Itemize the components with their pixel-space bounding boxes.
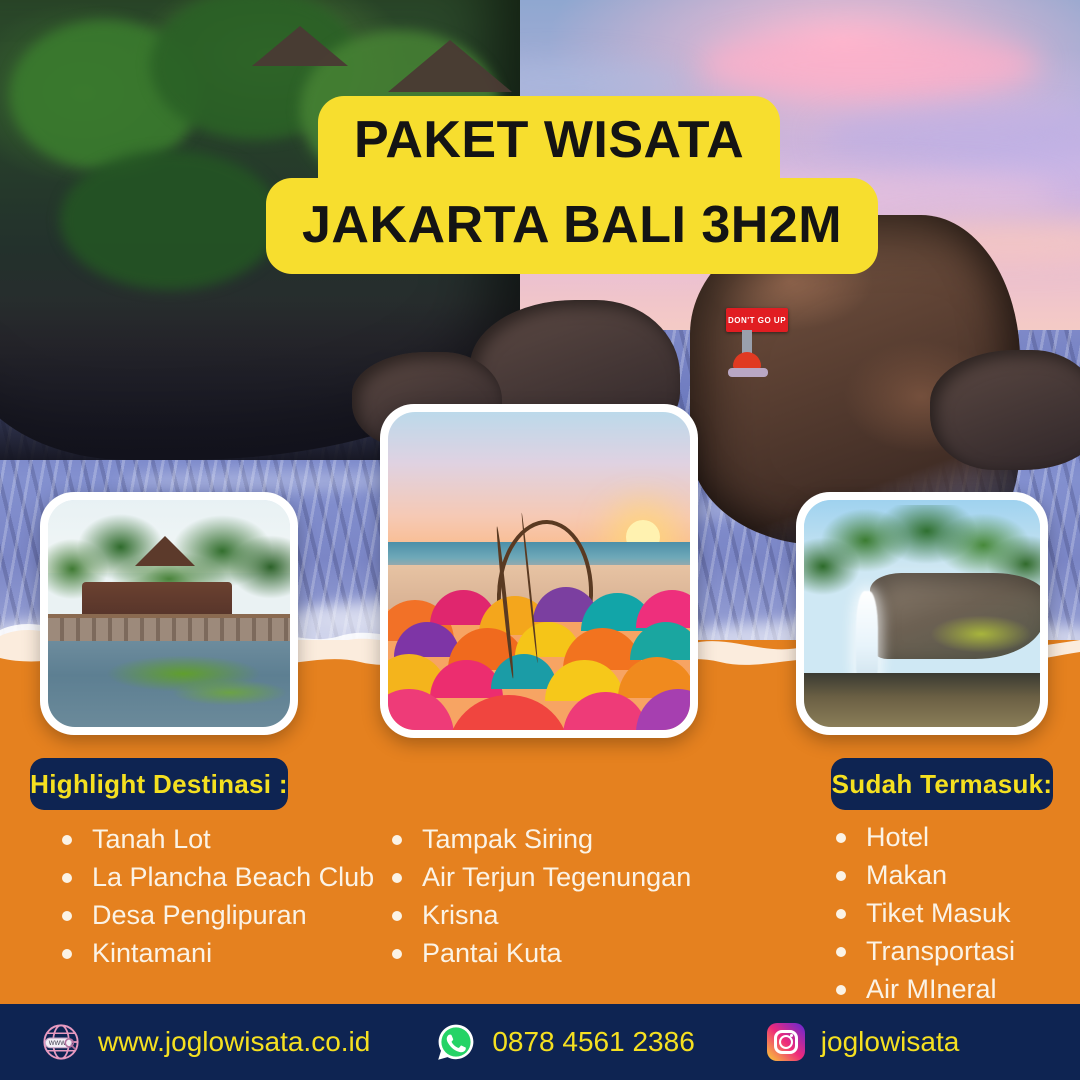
list-item-label: Desa Penglipuran <box>92 898 307 933</box>
title-line-1: PAKET WISATA <box>318 96 780 182</box>
cloud <box>700 30 1040 100</box>
rock <box>930 350 1080 470</box>
bullet-icon <box>62 911 72 921</box>
whatsapp-icon <box>436 1022 476 1062</box>
bullet-icon <box>836 985 846 995</box>
bullet-icon <box>392 911 402 921</box>
list-item: Tiket Masuk <box>836 896 1015 931</box>
list-item-label: Tiket Masuk <box>866 896 1011 931</box>
list-item-label: Krisna <box>422 898 499 933</box>
list-item-label: La Plancha Beach Club <box>92 860 374 895</box>
list-item: Transportasi <box>836 934 1015 969</box>
highlight-list-column-1: Tanah Lot La Plancha Beach Club Desa Pen… <box>62 822 374 974</box>
website-contact[interactable]: WWW www.joglowisata.co.id <box>40 1021 370 1063</box>
temple-roof <box>388 40 512 92</box>
list-item: La Plancha Beach Club <box>62 860 374 895</box>
beach-umbrellas-photo <box>380 404 698 738</box>
list-item: Tampak Siring <box>392 822 691 857</box>
foliage <box>60 150 280 290</box>
list-item-label: Hotel <box>866 820 929 855</box>
highlight-list-column-2: Tampak Siring Air Terjun Tegenungan Kris… <box>392 822 691 974</box>
bullet-icon <box>836 833 846 843</box>
whatsapp-contact[interactable]: 0878 4561 2386 <box>436 1022 694 1062</box>
wave-foam <box>120 470 420 492</box>
bullet-icon <box>836 947 846 957</box>
list-item: Tanah Lot <box>62 822 374 857</box>
list-item: Hotel <box>836 820 1015 855</box>
list-item-label: Tanah Lot <box>92 822 211 857</box>
list-item-label: Pantai Kuta <box>422 936 562 971</box>
contact-footer-bar: WWW www.joglowisata.co.id 0878 4561 2386… <box>0 1004 1080 1080</box>
list-item-label: Tampak Siring <box>422 822 593 857</box>
bullet-icon <box>392 835 402 845</box>
bullet-icon <box>392 873 402 883</box>
highlight-destinasi-heading: Highlight Destinasi : <box>30 758 288 810</box>
list-item-label: Kintamani <box>92 936 212 971</box>
list-item: Kintamani <box>62 936 374 971</box>
list-item: Air Terjun Tegenungan <box>392 860 691 895</box>
list-item-label: Air MIneral <box>866 972 997 1007</box>
instagram-contact[interactable]: joglowisata <box>767 1023 960 1061</box>
list-item-label: Transportasi <box>866 934 1015 969</box>
title-line-2: JAKARTA BALI 3H2M <box>266 178 878 274</box>
list-item: Makan <box>836 858 1015 893</box>
bullet-icon <box>62 949 72 959</box>
included-list: Hotel Makan Tiket Masuk Transportasi Air… <box>836 820 1015 1010</box>
list-item-label: Air Terjun Tegenungan <box>422 860 691 895</box>
list-item: Air MIneral <box>836 972 1015 1007</box>
list-item: Krisna <box>392 898 691 933</box>
instagram-label: joglowisata <box>821 1026 960 1058</box>
temple-roof <box>252 26 348 66</box>
svg-text:WWW: WWW <box>49 1040 67 1047</box>
website-label: www.joglowisata.co.id <box>98 1026 370 1058</box>
list-item: Pantai Kuta <box>392 936 691 971</box>
sudah-termasuk-heading: Sudah Termasuk: <box>831 758 1053 810</box>
bullet-icon <box>62 835 72 845</box>
bullet-icon <box>836 909 846 919</box>
instagram-icon <box>767 1023 805 1061</box>
dont-go-up-sign: DON'T GO UP <box>726 308 788 332</box>
list-item: Desa Penglipuran <box>62 898 374 933</box>
sign-foot <box>728 368 768 377</box>
bullet-icon <box>836 871 846 881</box>
list-item-label: Makan <box>866 858 947 893</box>
temple-pool-photo <box>40 492 298 735</box>
waterfall-photo <box>796 492 1048 735</box>
poster-root: DON'T GO UP PAKET WISATA JAKARTA BALI 3H… <box>0 0 1080 1080</box>
bullet-icon <box>392 949 402 959</box>
bullet-icon <box>62 873 72 883</box>
whatsapp-label: 0878 4561 2386 <box>492 1026 694 1058</box>
globe-www-icon: WWW <box>40 1021 82 1063</box>
